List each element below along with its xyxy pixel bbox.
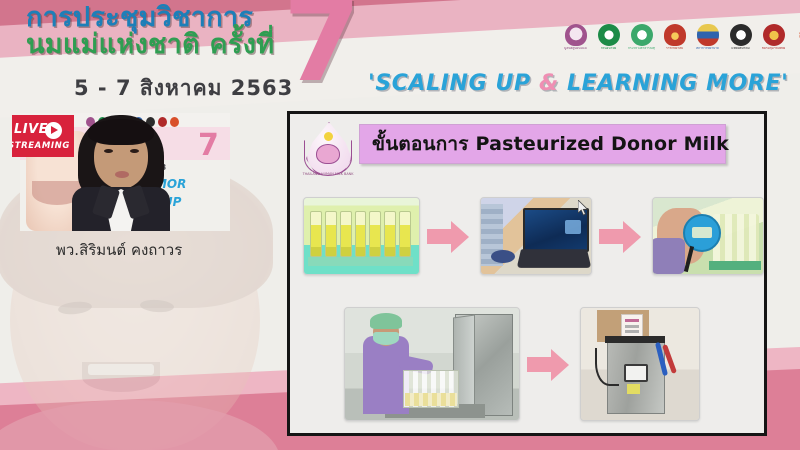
slide-title: ขั้นตอนการ Pasteurized Donor Milk [372,129,729,159]
slide-title-bar: ขั้นตอนการ Pasteurized Donor Milk [359,124,726,164]
conference-title: การประชุมวิชาการ นมแม่แห่งชาติ ครั้งที่ [26,4,274,59]
flow-arrow-3 [527,347,573,381]
tagline-ampersand: & [539,71,559,96]
department-of-health-logo: กระทรวงสาธารณสุข [628,24,655,58]
tagline-suffix: LEARNING MORE' [559,71,789,96]
nursing-council-logo: สภาการพยาบาล [694,24,721,58]
speaker-name: พว.สิริมนต์ คงถาวร [56,238,182,262]
conference-title-line2: นมแม่แห่งชาติ ครั้งที่ [26,31,274,60]
milk-bank-logo-caption: THAILAND HUMAN MILK BANK [296,172,360,176]
human-milk-bank-drop-logo: THAILAND HUMAN MILK BANK [298,120,358,180]
conference-header: การประชุมวิชาการ นมแม่แห่งชาติ ครั้งที่ … [0,0,800,108]
photo-nurse-pasteurizer [344,307,520,421]
process-flow-row-bottom [344,307,700,421]
conference-tagline: 'SCALING UP & LEARNING MORE' [368,71,788,96]
conference-date: 5 - 7 สิงหาคม 2563 [74,72,293,105]
organization-logo-strip: มูลนิธิศูนย์นมแม่ กรมอนามัย กระทรวงสาธาร… [562,24,800,58]
photo-pasteurizer-machine [580,307,700,421]
flow-arrow-2 [599,219,645,253]
presentation-slide: การประชุมวิชาการ นมแม่แห่งชาติ ครั้งที่ … [0,0,800,450]
pediatric-society-logo: ชมรมกุมารแพทย์ [760,24,787,58]
medical-association-logo: แพทยสมาคม [727,24,754,58]
video-edition-number: 7 [198,131,219,161]
speaker-video-thumbnail[interactable]: การประชุมวิชาการ นมแม่แห่งชาติ ครั้งที่ … [20,113,230,231]
thaihealth-sss-logo: สสส [793,24,800,58]
speaker-portrait [68,115,172,231]
thai-breastfeeding-foundation-logo: มูลนิธิศูนย์นมแม่ [562,24,589,58]
photo-milk-bottle-racks [303,197,420,275]
royal-college-logo: ราชวิทยาลัย [661,24,688,58]
slide-content-panel: THAILAND HUMAN MILK BANK ขั้นตอนการ Past… [287,111,767,436]
photo-laptop-records [480,197,592,275]
tagline-prefix: 'SCALING UP [368,71,539,96]
photo-digital-thermometer [652,197,764,275]
flow-arrow-1 [427,219,473,253]
ministry-of-public-health-logo: กรมอนามัย [595,24,622,58]
conference-edition-number: 7 [283,0,361,98]
process-flow-row-top [303,197,764,275]
